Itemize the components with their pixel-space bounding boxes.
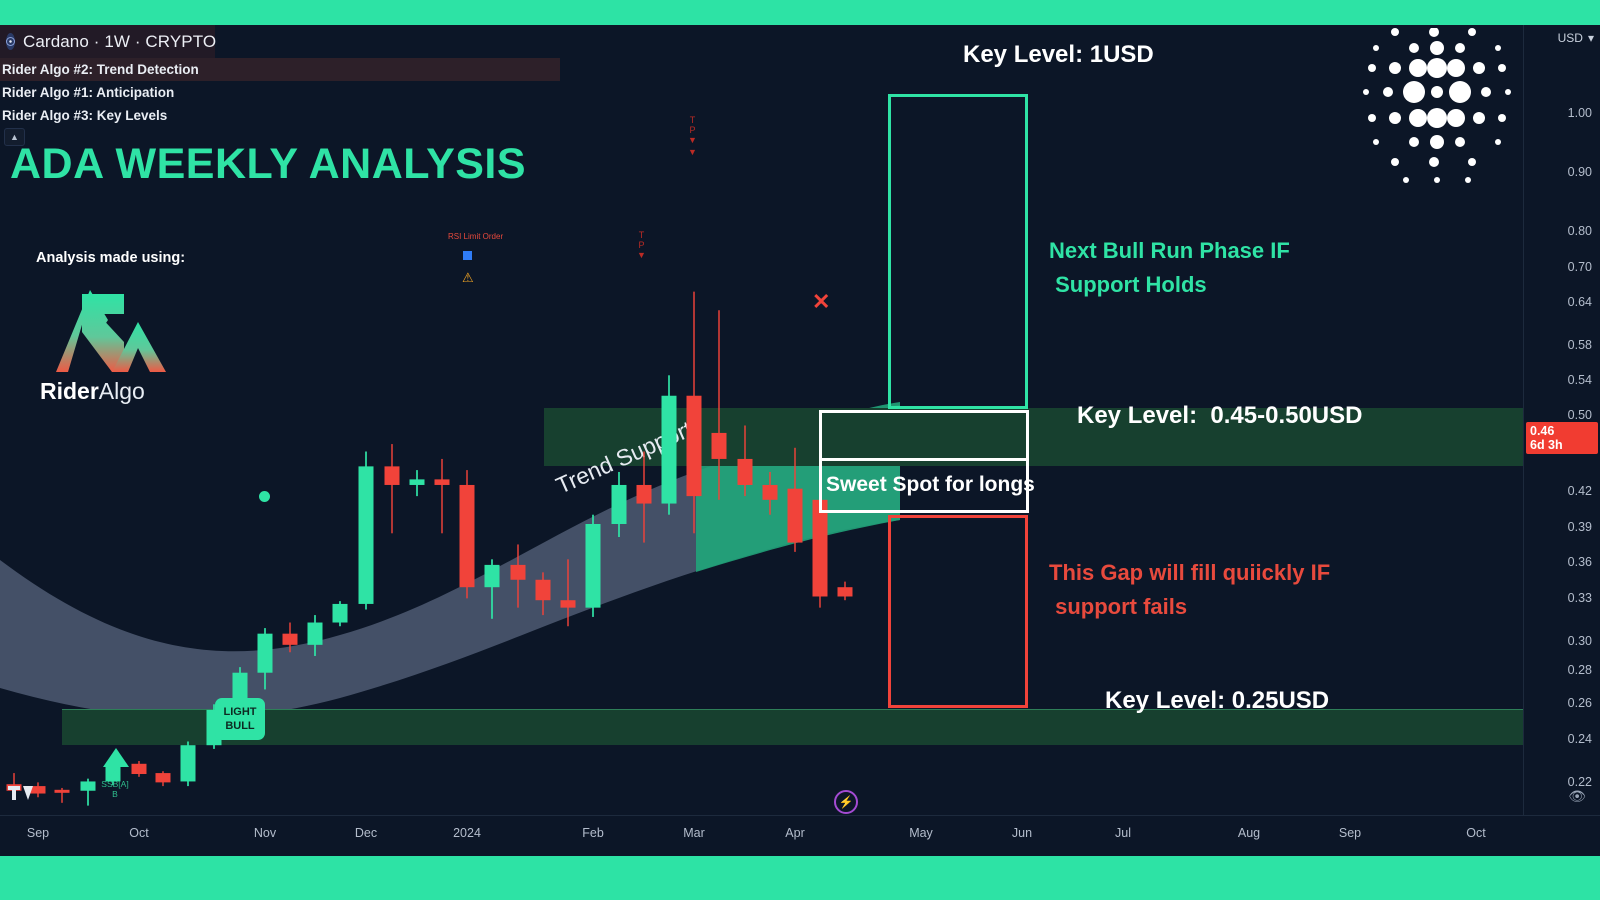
sweet-spot-box [819, 410, 1029, 513]
time-tick: Sep [1339, 826, 1361, 840]
time-tick: Feb [582, 826, 604, 840]
annotation-key-level-025: Key Level: 0.25USD [1105, 687, 1329, 715]
annotation-key-level-045: Key Level: 0.45-0.50USD [1077, 402, 1362, 430]
rideralgo-logo-icon [38, 280, 178, 375]
current-price-badge: 0.46 6d 3h [1526, 422, 1598, 454]
time-tick: Oct [1466, 826, 1485, 840]
ssb-buy-triangle-small-icon [110, 770, 120, 777]
price-tick: 0.50 [1568, 408, 1592, 422]
light-bull-line1: LIGHT [224, 705, 257, 719]
brand-band-bottom [0, 856, 1600, 900]
light-bull-line2: BULL [225, 719, 254, 733]
price-tick: 0.70 [1568, 260, 1592, 274]
made-using-label: Analysis made using: [36, 250, 185, 266]
take-profit-marker: TP▼ [637, 230, 646, 260]
price-tick: 0.28 [1568, 663, 1592, 677]
indicator-row-key-levels[interactable]: Rider Algo #3: Key Levels [0, 104, 167, 127]
time-tick: Jul [1115, 826, 1131, 840]
time-tick: Mar [683, 826, 705, 840]
price-tick: 0.64 [1568, 295, 1592, 309]
brand-band-top [0, 0, 1600, 25]
indicator-row-anticipation[interactable]: Rider Algo #1: Anticipation [0, 81, 174, 104]
price-tick: 0.24 [1568, 732, 1592, 746]
page-title: ADA WEEKLY ANALYSIS [10, 140, 526, 189]
ticker-row[interactable]: Cardano · 1W · CRYPTO [0, 25, 215, 58]
price-tick: 0.30 [1568, 634, 1592, 648]
price-tick: 0.26 [1568, 696, 1592, 710]
time-tick: Sep [27, 826, 49, 840]
annotation-bull-run: Next Bull Run Phase IF Support Holds [1049, 234, 1290, 302]
red-x-icon: ✕ [812, 289, 830, 315]
price-tick: 0.54 [1568, 373, 1592, 387]
time-axis[interactable]: SepOctNovDec2024FebMarAprMayJunJulAugSep… [0, 815, 1600, 856]
time-tick: Dec [355, 826, 377, 840]
sweet-spot-divider [822, 458, 1026, 461]
brand-light: Algo [99, 378, 145, 404]
price-tick: 0.42 [1568, 484, 1592, 498]
take-profit-marker: TP▼ [688, 115, 697, 145]
limit-order-badge-icon [463, 251, 472, 260]
price-tick: 0.58 [1568, 338, 1592, 352]
current-price-value: 0.46 [1530, 424, 1594, 438]
price-tick: 0.80 [1568, 224, 1592, 238]
chart-legend: Cardano · 1W · CRYPTO Rider Algo #2: Tre… [0, 25, 1600, 58]
price-axis[interactable]: USD ▾ 0.46 6d 3h 👁 1.000.900.800.700.640… [1523, 25, 1600, 815]
tradingview-logo [8, 783, 38, 809]
collapse-legend-button[interactable]: ▲ [4, 128, 25, 146]
annotation-gap-fill: This Gap will fill quiickly IF support f… [1049, 556, 1330, 624]
price-tick: 1.00 [1568, 106, 1592, 120]
signal-dot-marker [259, 491, 270, 502]
indicator-row-trend-detection[interactable]: Rider Algo #2: Trend Detection [0, 58, 199, 81]
brand-bold: Rider [40, 378, 99, 404]
ssb-label: SSB[A]B [100, 779, 130, 799]
gap-fill-box [888, 515, 1028, 708]
time-tick: May [909, 826, 933, 840]
take-profit-marker: ▼ [688, 147, 697, 157]
countdown-value: 6d 3h [1530, 438, 1594, 452]
time-tick: 2024 [453, 826, 481, 840]
price-tick: 0.22 [1568, 775, 1592, 789]
time-tick: Oct [129, 826, 148, 840]
light-bull-label: LIGHT BULL [215, 698, 265, 740]
bull-run-box [888, 94, 1028, 409]
time-tick: Aug [1238, 826, 1260, 840]
tradingview-chart-screenshot: Sweet Spot for longs Trend Support RSI L… [0, 0, 1600, 900]
sweet-spot-label: Sweet Spot for longs [826, 473, 1035, 497]
lightning-bolt-icon[interactable]: ⚡ [834, 790, 858, 814]
warning-triangle-icon: ⚠ [462, 270, 474, 286]
time-tick: Apr [785, 826, 804, 840]
time-tick: Jun [1012, 826, 1032, 840]
cardano-circle-icon [6, 33, 15, 50]
price-tick: 0.90 [1568, 165, 1592, 179]
eye-icon[interactable]: 👁 [1568, 788, 1586, 805]
time-tick: Nov [254, 826, 276, 840]
price-tick: 0.39 [1568, 520, 1592, 534]
ticker-label: Cardano · 1W · CRYPTO [23, 32, 216, 52]
price-tick: 0.33 [1568, 591, 1592, 605]
rideralgo-wordmark: RiderAlgo [40, 378, 145, 405]
price-tick: 0.36 [1568, 555, 1592, 569]
rsi-limit-order-marker: RSI Limit Order [448, 232, 503, 241]
ssb-buy-triangle-icon [103, 748, 129, 767]
